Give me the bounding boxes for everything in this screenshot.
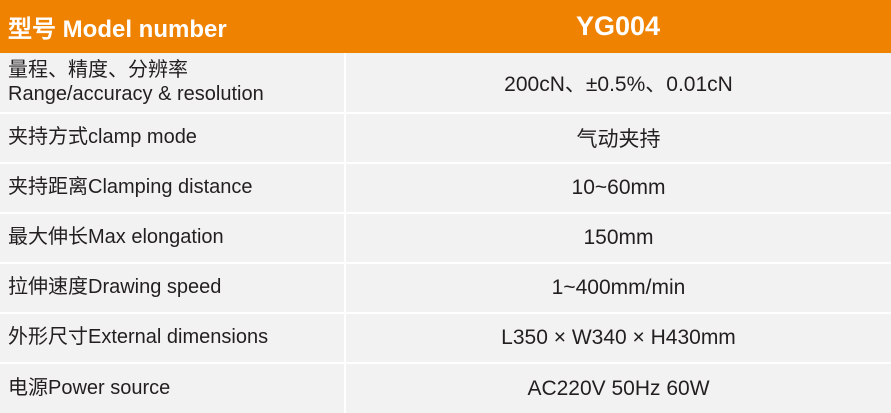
table-header-row: 型号 Model number YG004: [0, 0, 891, 53]
table-row: 量程、精度、分辨率 Range/accuracy & resolution 20…: [0, 53, 891, 113]
row-label: 夹持距离Clamping distance: [0, 163, 345, 213]
row-label: 外形尺寸External dimensions: [0, 313, 345, 363]
row-label: 电源Power source: [0, 363, 345, 413]
row-label: 量程、精度、分辨率 Range/accuracy & resolution: [0, 53, 345, 113]
table-row: 外形尺寸External dimensions L350 × W340 × H4…: [0, 313, 891, 363]
row-value: 200cN、±0.5%、0.01cN: [345, 53, 891, 113]
table-row: 电源Power source AC220V 50Hz 60W: [0, 363, 891, 413]
table-body: 型号 Model number YG004 量程、精度、分辨率 Range/ac…: [0, 0, 891, 413]
row-value: AC220V 50Hz 60W: [345, 363, 891, 413]
row-value: L350 × W340 × H430mm: [345, 313, 891, 363]
table-row: 夹持距离Clamping distance 10~60mm: [0, 163, 891, 213]
row-label: 夹持方式clamp mode: [0, 113, 345, 163]
table-row: 夹持方式clamp mode 气动夹持: [0, 113, 891, 163]
row-value: 10~60mm: [345, 163, 891, 213]
table-row: 拉伸速度Drawing speed 1~400mm/min: [0, 263, 891, 313]
header-label-cell: 型号 Model number: [0, 0, 345, 53]
specification-table: 型号 Model number YG004 量程、精度、分辨率 Range/ac…: [0, 0, 891, 413]
row-label: 拉伸速度Drawing speed: [0, 263, 345, 313]
row-value: 气动夹持: [345, 113, 891, 163]
row-value: 1~400mm/min: [345, 263, 891, 313]
row-label: 最大伸长Max elongation: [0, 213, 345, 263]
table-row: 最大伸长Max elongation 150mm: [0, 213, 891, 263]
header-value-cell: YG004: [345, 0, 891, 53]
row-value: 150mm: [345, 213, 891, 263]
